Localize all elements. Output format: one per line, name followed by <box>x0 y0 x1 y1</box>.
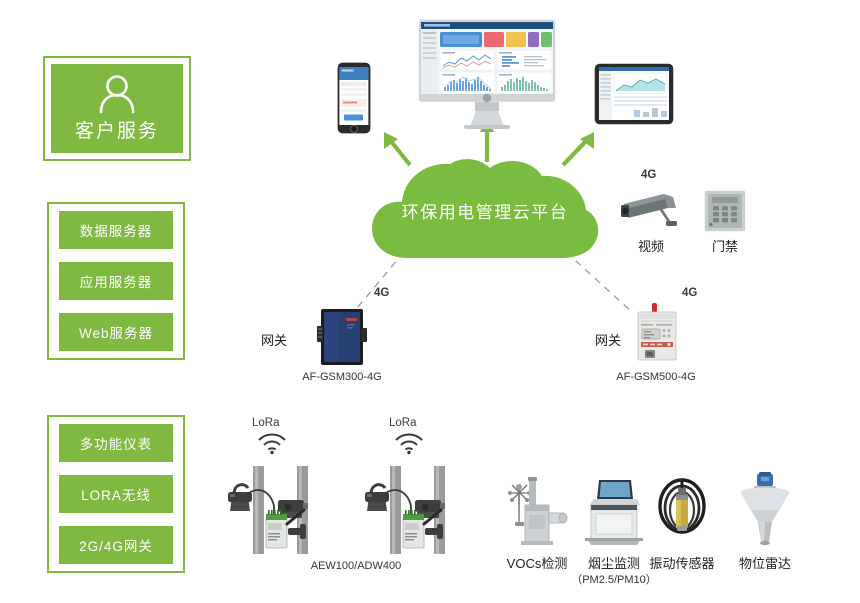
sensor-sublabel-dust: （PM2.5/PM10） <box>559 571 669 587</box>
server-stack-panel[interactable]: 数据服务器 应用服务器 Web服务器 <box>47 202 185 360</box>
cctv-camera-icon[interactable] <box>620 190 682 232</box>
right-gateway-role-label: 网关 <box>595 330 621 349</box>
customer-service-label: 客户服务 <box>75 116 159 143</box>
field-item-lora-label: LORA无线 <box>81 484 151 504</box>
right-devices-link-label: 4G <box>641 169 656 181</box>
customer-service-panel[interactable]: 客户服务 <box>43 56 191 161</box>
field-item-lora[interactable]: LORA无线 <box>59 475 173 513</box>
dust-monitor-icon[interactable] <box>583 477 645 547</box>
lora-wifi-icon-1 <box>257 431 287 455</box>
server-item-data[interactable]: 数据服务器 <box>59 211 173 249</box>
sensor-label-vibration: 振动传感器 <box>637 553 727 572</box>
gateway-afgsm300-device[interactable] <box>316 308 368 366</box>
vibration-sensor-icon[interactable] <box>655 476 709 546</box>
field-device-stack-panel[interactable]: 多功能仪表 LORA无线 2G/4G网关 <box>47 415 185 573</box>
lora-label-2: LoRa <box>389 417 417 429</box>
vocs-detector-icon[interactable] <box>505 475 569 547</box>
desktop-monitor-device[interactable] <box>418 19 556 129</box>
lora-label-1: LoRa <box>252 417 280 429</box>
field-item-meter-label: 多功能仪表 <box>80 433 153 453</box>
link-label-4g-right: 4G <box>682 287 697 299</box>
lora-wifi-icon-2 <box>394 431 424 455</box>
server-item-web-label: Web服务器 <box>79 322 153 342</box>
cloud-platform[interactable]: 环保用电管理云平台 <box>368 158 602 262</box>
field-item-gateway-label: 2G/4G网关 <box>79 535 153 555</box>
access-control-keypad-icon[interactable] <box>704 190 746 232</box>
server-item-data-label: 数据服务器 <box>80 220 153 240</box>
diagram-canvas: 客户服务 数据服务器 应用服务器 Web服务器 多功能仪表 LORA无线 2G/… <box>0 0 860 603</box>
meter-aew100-device-1[interactable] <box>226 466 322 554</box>
meter-group-label: AEW100/ADW400 <box>258 560 454 572</box>
left-gateway-model-label: AF-GSM300-4G <box>296 371 388 383</box>
meter-aew100-device-2[interactable] <box>363 466 459 554</box>
sensor-label-radar: 物位雷达 <box>720 553 810 572</box>
field-item-meter[interactable]: 多功能仪表 <box>59 424 173 462</box>
level-radar-icon[interactable] <box>738 472 792 548</box>
customer-service-inner: 客户服务 <box>51 64 183 153</box>
cloud-platform-label: 环保用电管理云平台 <box>368 158 602 262</box>
access-control-label: 门禁 <box>704 236 746 255</box>
right-gateway-model-label: AF-GSM500-4G <box>610 371 702 383</box>
server-item-app-label: 应用服务器 <box>80 271 153 291</box>
person-icon <box>96 74 138 114</box>
field-item-gateway[interactable]: 2G/4G网关 <box>59 526 173 564</box>
left-gateway-role-label: 网关 <box>261 330 287 349</box>
server-item-app[interactable]: 应用服务器 <box>59 262 173 300</box>
tablet-device[interactable] <box>594 63 674 125</box>
gateway-afgsm500-device[interactable] <box>632 303 682 365</box>
smartphone-device[interactable] <box>337 62 371 134</box>
link-label-4g-left: 4G <box>374 287 389 299</box>
cctv-camera-label: 视频 <box>620 236 682 255</box>
server-item-web[interactable]: Web服务器 <box>59 313 173 351</box>
